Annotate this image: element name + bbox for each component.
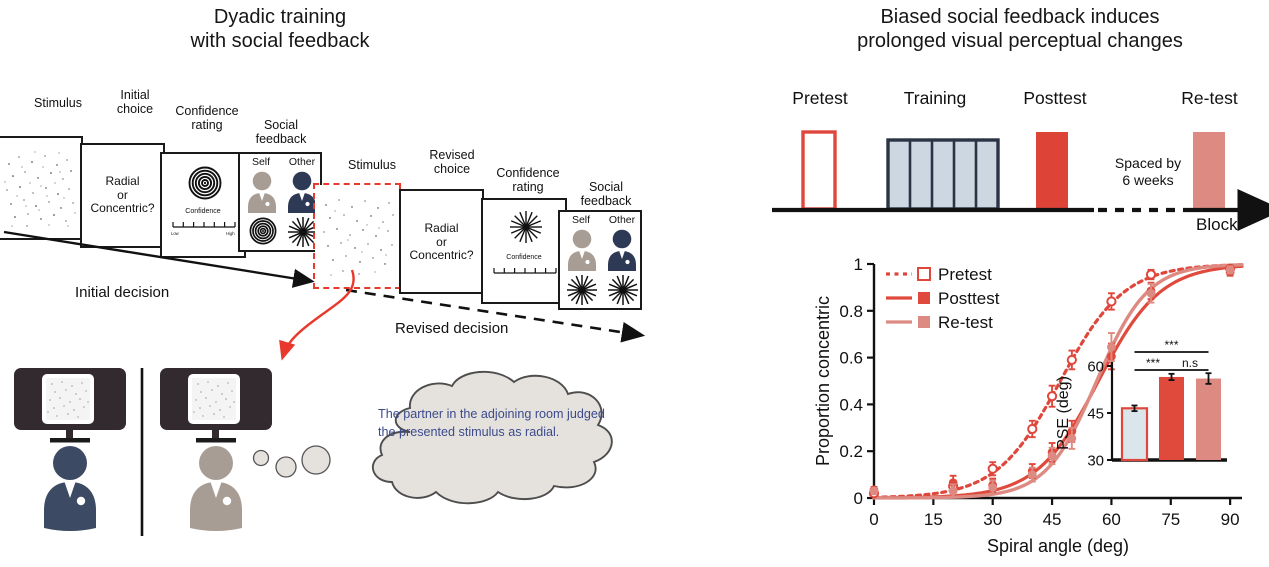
right-panel-title: Biased social feedback induces prolonged…: [790, 6, 1250, 53]
participant-navy-icon: [14, 368, 126, 531]
y-tick-label: 0: [854, 489, 863, 508]
marker: [1147, 270, 1155, 278]
marker: [1107, 297, 1115, 305]
flow-label-confidence-2-l1: Confidence: [482, 166, 574, 180]
y-tick-label: 0.2: [839, 442, 863, 461]
social-1-other-label: Other: [282, 156, 322, 168]
timeline-axis-label: Block: [1196, 215, 1238, 235]
timeline-label-pretest: Pretest: [770, 88, 870, 109]
initial-decision-label: Initial decision: [75, 284, 169, 301]
marker: [949, 487, 958, 496]
x-tick-label: 45: [1043, 510, 1062, 529]
left-panel-title: Dyadic training with social feedback: [40, 6, 520, 53]
right-title-line-1: Biased social feedback induces: [790, 6, 1250, 30]
highlight-curve-arrow: [283, 270, 354, 356]
flow-label-social-2-l1: Social: [565, 180, 647, 194]
legend-item-re-test[interactable]: Re-test: [886, 313, 993, 332]
legend-item-posttest[interactable]: Posttest: [886, 289, 1000, 308]
flow-label-confidence-2-l2: rating: [482, 180, 574, 194]
timeline-label-posttest-text: Posttest: [1023, 88, 1086, 108]
thought-bubble-tail: [250, 440, 360, 490]
initial-decision-arrow: [4, 232, 310, 281]
flow-label-social-2: Social feedback: [565, 180, 647, 208]
timeline-block-posttest[interactable]: [1036, 132, 1068, 209]
y-axis-label: Proportion concentric: [813, 296, 833, 466]
flow-label-confidence-1-l1: Confidence: [161, 104, 253, 118]
self-avatar-1-icon: [245, 171, 279, 214]
question-1-l2: or: [82, 189, 163, 203]
marker: [1028, 470, 1037, 479]
marker: [1226, 265, 1235, 274]
timeline-spacing-note: Spaced by 6 weeks: [1093, 155, 1203, 189]
inset-y-tick-label: 45: [1087, 406, 1104, 423]
social-1-self-label: Self: [242, 156, 280, 168]
inset-bar-pretest[interactable]: [1122, 408, 1147, 460]
marker: [1028, 425, 1036, 433]
concentric-rings-icon: [188, 166, 222, 200]
timeline-label-training: Training: [880, 88, 990, 109]
flow-label-social-2-l2: feedback: [565, 194, 647, 208]
flow-label-revised-choice-l2: choice: [413, 162, 491, 176]
revised-decision-label: Revised decision: [395, 320, 508, 337]
x-tick-label: 60: [1102, 510, 1121, 529]
left-title-line-2: with social feedback: [40, 30, 520, 54]
timeline-label-posttest: Posttest: [1000, 88, 1110, 109]
marker: [1147, 289, 1156, 298]
marker: [870, 487, 879, 496]
timeline-label-retest-text: Re-test: [1181, 88, 1237, 108]
question-1-l3: Concentric?: [82, 202, 163, 216]
participants-illustration: [12, 368, 282, 560]
data-point-re-test-90[interactable]: [1226, 265, 1235, 274]
marker: [1068, 356, 1076, 364]
decision-arrows-group: [0, 218, 700, 348]
flow-label-stimulus-1-text: Stimulus: [14, 96, 102, 110]
right-title-line-2: prolonged visual perceptual changes: [790, 30, 1250, 54]
initial-choice-question: Radial or Concentric?: [82, 175, 163, 216]
inset-y-tick-label: 30: [1087, 453, 1104, 470]
legend-label: Posttest: [938, 289, 1000, 308]
flow-label-stimulus-2: Stimulus: [330, 158, 414, 172]
flow-label-social-1-l2: feedback: [240, 132, 322, 146]
legend-item-pretest[interactable]: Pretest: [886, 265, 992, 284]
data-point-re-test-0[interactable]: [870, 487, 879, 496]
flow-label-initial-choice-l1: Initial: [95, 88, 175, 102]
timeline-spacing-note-l1: Spaced by: [1093, 155, 1203, 172]
flow-label-stimulus-2-text: Stimulus: [330, 158, 414, 172]
x-tick-label: 75: [1161, 510, 1180, 529]
timeline-axis-label-text: Block: [1196, 215, 1238, 234]
timeline-label-retest: Re-test: [1157, 88, 1262, 109]
legend-label: Re-test: [938, 313, 993, 332]
psychometric-chart-svg: 00.20.40.60.810153045607590Spiral angle …: [812, 248, 1262, 566]
x-tick-label: 30: [983, 510, 1002, 529]
legend-marker: [918, 316, 930, 328]
y-tick-label: 0.4: [839, 395, 863, 414]
flow-label-revised-choice: Revised choice: [413, 148, 491, 176]
x-tick-label: 90: [1221, 510, 1240, 529]
question-1-l1: Radial: [82, 175, 163, 189]
timeline-label-training-text: Training: [904, 88, 967, 108]
inset-sig-pre-post-label: ***: [1146, 356, 1160, 370]
inset-bar-re-test[interactable]: [1196, 379, 1221, 460]
legend-label: Pretest: [938, 265, 992, 284]
confidence-caption-1: Confidence: [162, 208, 244, 215]
left-title-line-1: Dyadic training: [40, 6, 520, 30]
flow-label-confidence-2: Confidence rating: [482, 166, 574, 194]
y-tick-label: 1: [854, 255, 863, 274]
x-axis-label: Spiral angle (deg): [987, 536, 1129, 556]
psychometric-chart: 00.20.40.60.810153045607590Spiral angle …: [812, 248, 1262, 566]
flow-label-social-1-l1: Social: [240, 118, 322, 132]
flow-label-revised-choice-l1: Revised: [413, 148, 491, 162]
inset-y-tick-label: 60: [1087, 359, 1104, 376]
marker: [988, 483, 997, 492]
data-point-pretest-70[interactable]: [1147, 270, 1155, 279]
legend-marker: [918, 268, 930, 280]
marker: [1048, 451, 1057, 460]
timeline-block-pretest[interactable]: [803, 132, 835, 209]
flow-label-social-1: Social feedback: [240, 118, 322, 146]
marker: [1107, 343, 1116, 352]
inset-sig-pre-re-label: ***: [1164, 338, 1178, 352]
x-tick-label: 15: [924, 510, 943, 529]
inset-bar-chart: 304560PSE (deg)***n.s***: [1055, 338, 1227, 470]
timeline-block-training[interactable]: [888, 140, 998, 209]
timeline-spacing-note-l2: 6 weeks: [1093, 172, 1203, 189]
x-tick-label: 0: [869, 510, 878, 529]
y-tick-label: 0.8: [839, 302, 863, 321]
flow-label-stimulus-1: Stimulus: [14, 96, 102, 110]
thought-bubble-text: The partner in the adjoining room judged…: [378, 406, 616, 442]
legend-marker: [918, 292, 930, 304]
marker: [989, 465, 997, 473]
inset-y-axis-label: PSE (deg): [1055, 376, 1072, 450]
y-tick-label: 0.6: [839, 349, 863, 368]
timeline-label-pretest-text: Pretest: [792, 88, 847, 108]
inset-sig-post-re-label: n.s: [1182, 356, 1198, 370]
inset-bar-posttest[interactable]: [1159, 377, 1184, 460]
